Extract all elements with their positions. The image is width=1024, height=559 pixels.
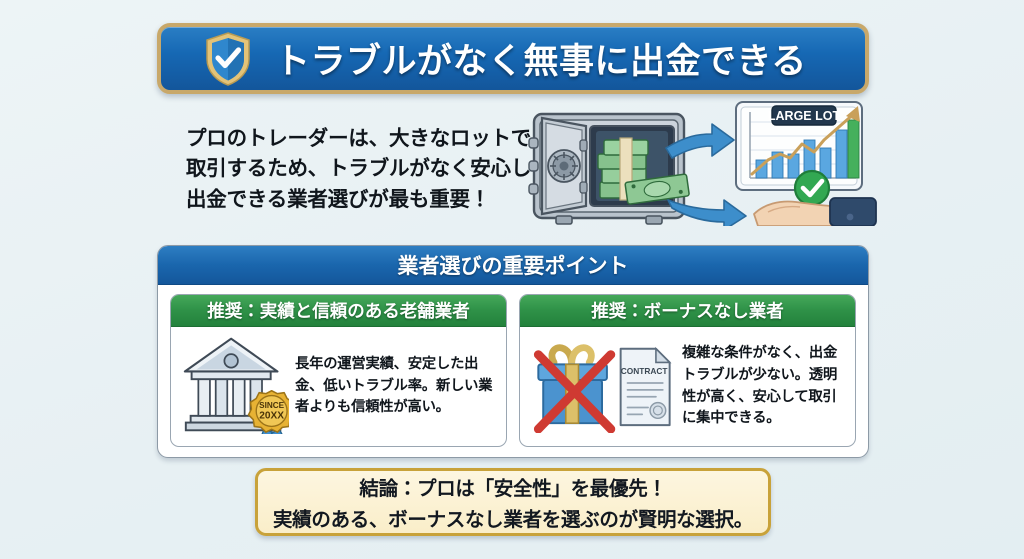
card-header-title: 推奨：ボーナスなし業者 [591, 298, 784, 323]
infographic-canvas: トラブルがなく無事に出金できる プロのトレーダーは、大きなロットで 取引するため… [0, 0, 1024, 559]
card-text-established: 長年の運営実績、安定した出金、低いトラブル率。新しい業者よりも信頼性が高い。 [295, 354, 498, 419]
intro-line-1: プロのトレーダーは、大きなロットで [186, 124, 531, 154]
card-body-no-bonus: CONTRACT [520, 327, 855, 446]
card-header-established: 推奨：実績と信頼のある老舗業者 [171, 295, 506, 327]
intro-line-3: 出金できる業者選びが最も重要！ [186, 185, 531, 215]
point-card-no-bonus-broker: 推奨：ボーナスなし業者 [519, 294, 856, 447]
card-header-no-bonus: 推奨：ボーナスなし業者 [520, 295, 855, 327]
green-check-circle-icon [795, 171, 829, 205]
point-card-established-broker: 推奨：実績と信頼のある老舗業者 [170, 294, 507, 447]
intro-text: プロのトレーダーは、大きなロットで 取引するため、トラブルがなく安心して 出金で… [186, 124, 531, 215]
conclusion-line-1: 結論：プロは「安全性」を最優先！ [359, 472, 666, 501]
header-title: トラブルがなく無事に出金できる [275, 33, 807, 84]
badge-line-1: SINCE [259, 401, 285, 410]
intro-line-2: 取引するため、トラブルがなく安心して [186, 154, 531, 184]
points-panel: 業者選びの重要ポイント 推奨：実績と信頼のある老舗業者 [157, 245, 869, 458]
bank-building-icon: SINCE 20XX [181, 334, 289, 439]
hero-illustration: LARGE LOT [528, 96, 880, 226]
points-cards-row: 推奨：実績と信頼のある老舗業者 [158, 285, 868, 458]
card-text-no-bonus: 複雑な条件がなく、出金トラブルが少ない。透明性が高く、安心して取引に集中できる。 [682, 343, 847, 430]
points-panel-header: 業者選びの重要ポイント [158, 246, 868, 285]
card-header-title: 推奨：実績と信頼のある老舗業者 [207, 298, 470, 323]
header-banner: トラブルがなく無事に出金できる [157, 23, 869, 94]
document-label: CONTRACT [621, 366, 668, 376]
conclusion-box: 結論：プロは「安全性」を最優先！ 実績のある、ボーナスなし業者を選ぶのが賢明な選… [255, 468, 771, 536]
conclusion-line-2: 実績のある、ボーナスなし業者を選ぶのが賢明な選択。 [273, 503, 753, 532]
open-safe-with-cash-icon [529, 114, 689, 224]
crossed-out-gift-and-contract-icon: CONTRACT [530, 335, 676, 438]
shield-check-icon [203, 31, 253, 87]
card-body-established: SINCE 20XX 長年の運営実績、安定した出金、低いトラブル率。新しい業者よ… [171, 327, 506, 446]
points-panel-title: 業者選びの重要ポイント [398, 250, 629, 280]
badge-line-2: 20XX [259, 411, 284, 422]
contract-document-icon: CONTRACT [621, 349, 670, 425]
chart-label: LARGE LOT [768, 109, 841, 123]
